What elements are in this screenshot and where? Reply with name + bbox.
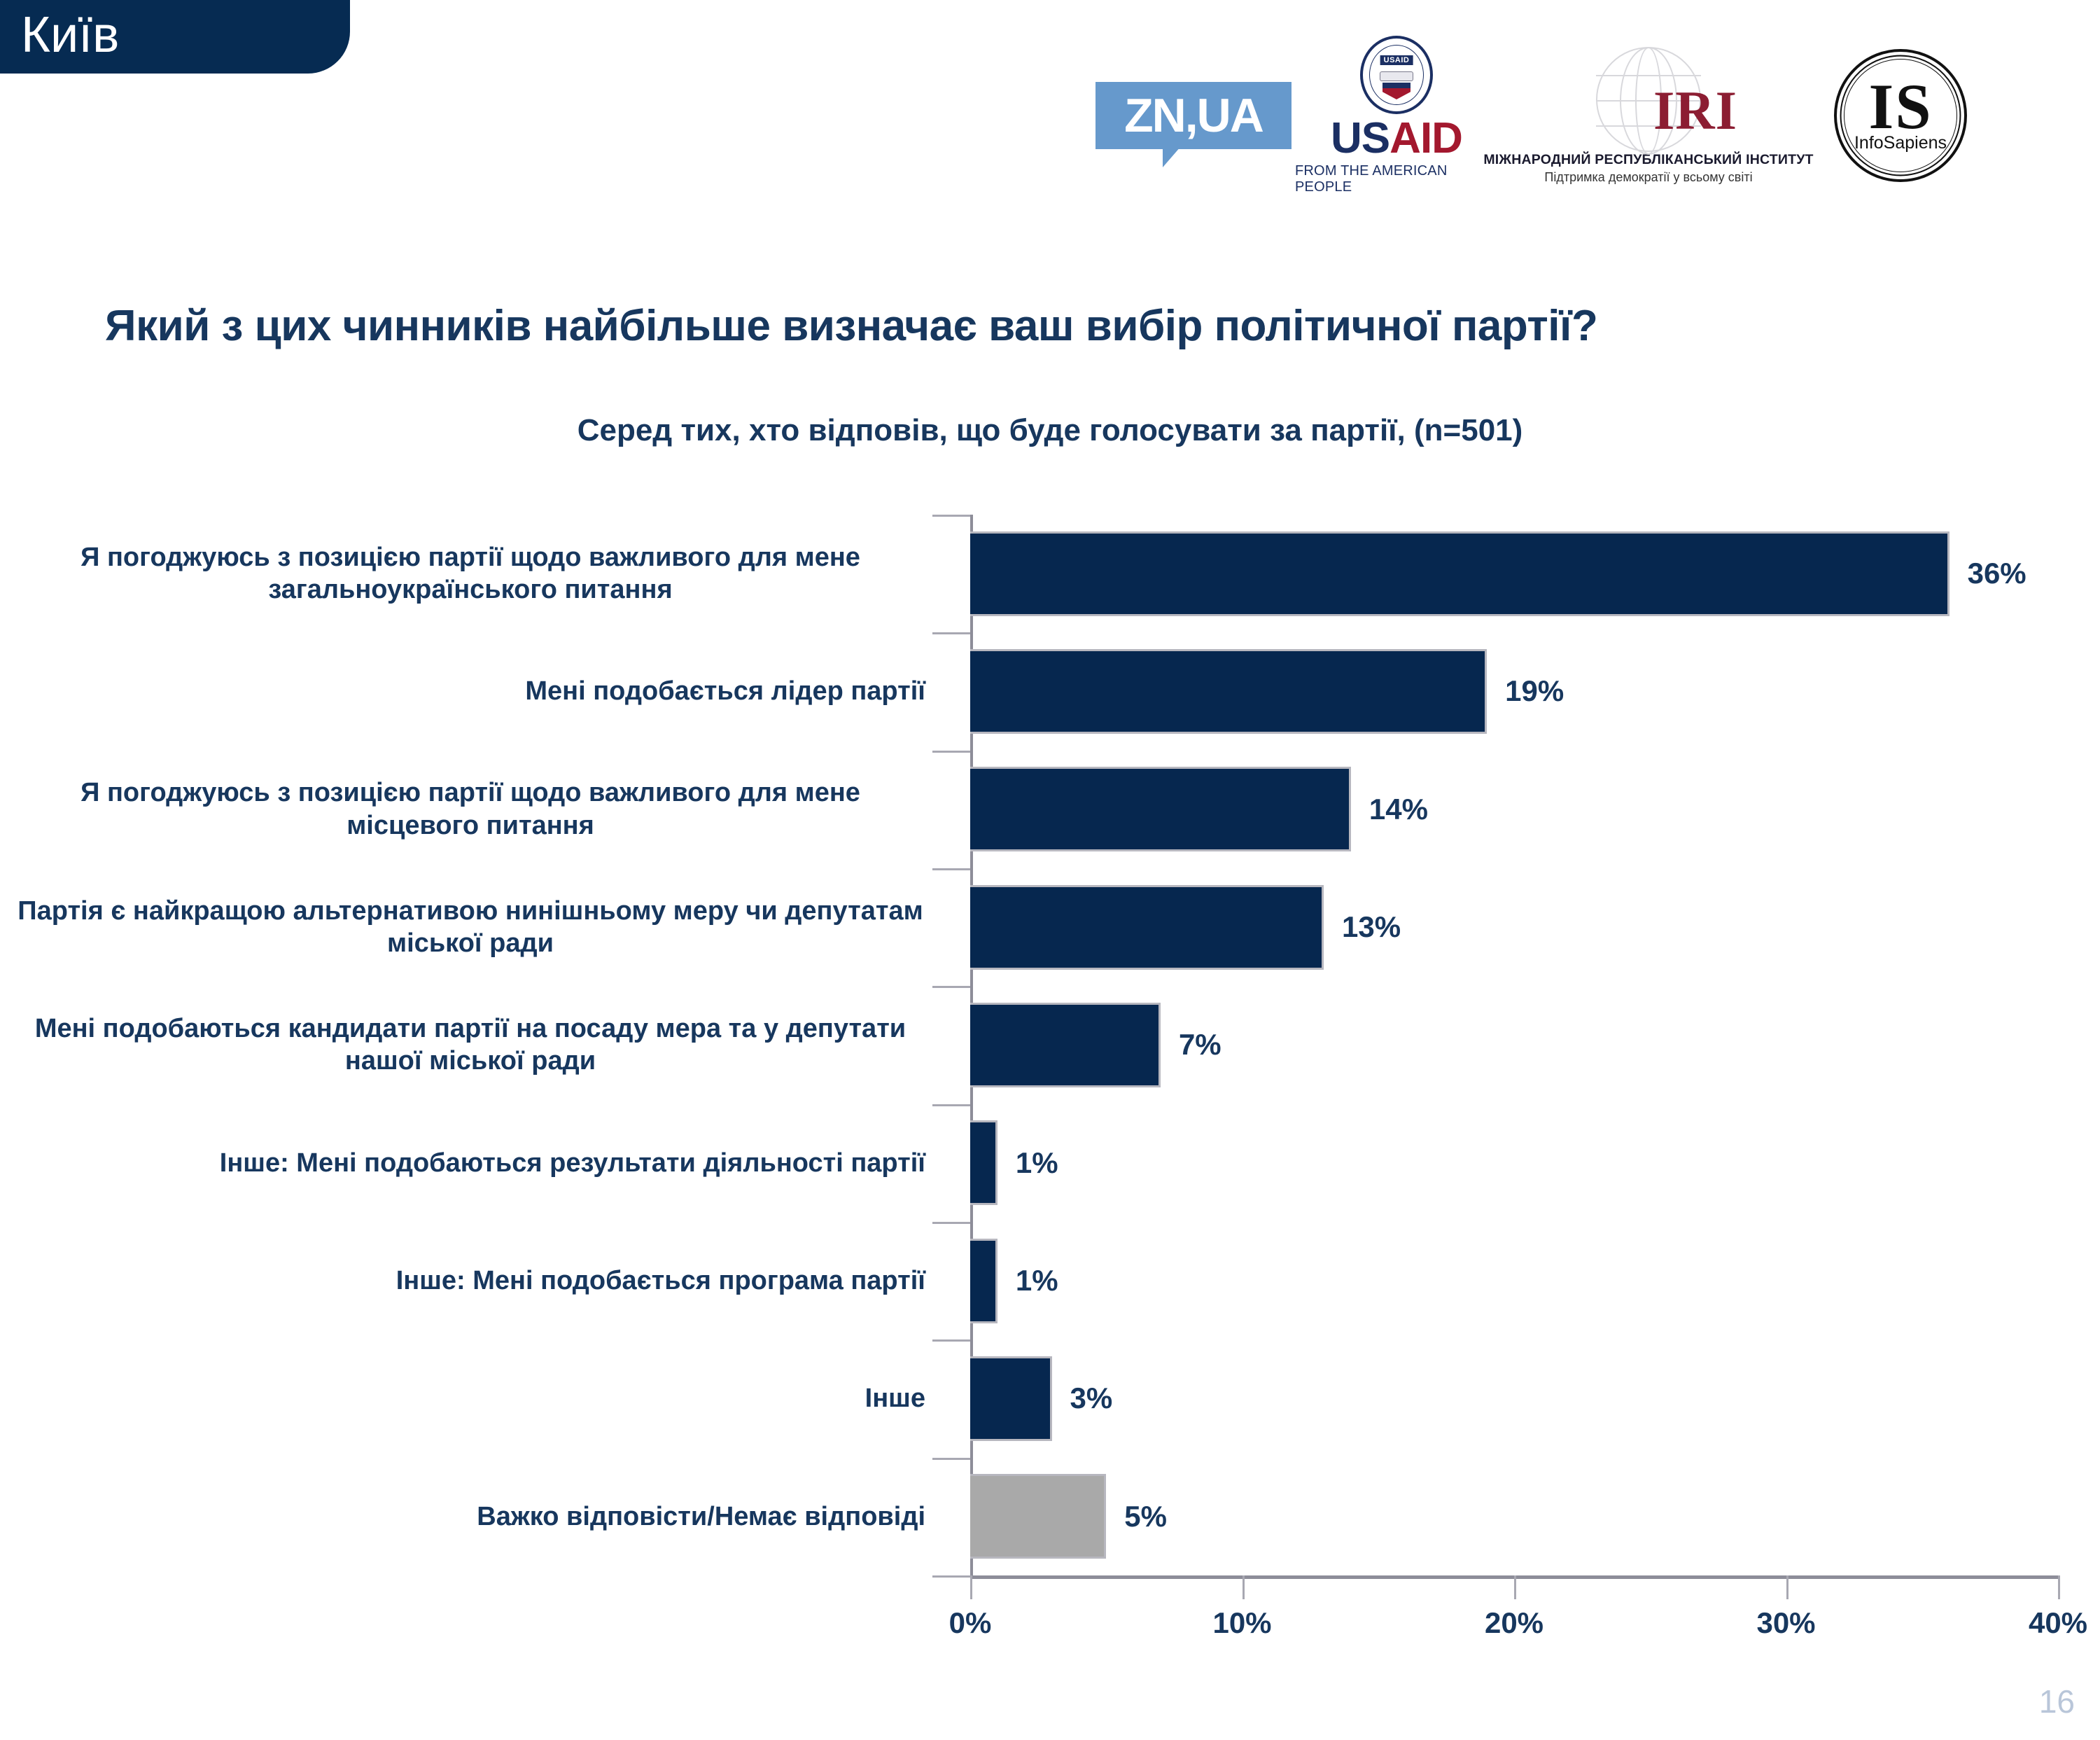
usaid-tagline: FROM THE AMERICAN PEOPLE: [1295, 163, 1498, 195]
category-label: Мені подобаються кандидати партії на пос…: [15, 986, 925, 1104]
globe-latitude-1: [1596, 75, 1701, 76]
bar-row[interactable]: 5%: [970, 1474, 2058, 1559]
usaid-seal-icon: USAID: [1360, 36, 1433, 114]
category-label-text: Я погоджуюсь з позицією партії щодо важл…: [15, 541, 925, 606]
chart-title: Який з цих чинників найбільше визначає в…: [105, 301, 2044, 351]
y-axis-tick: [932, 751, 970, 753]
category-label: Партія є найкращою альтернативою нинішнь…: [15, 868, 925, 986]
y-axis-tick: [932, 986, 970, 988]
usaid-seal-label: USAID: [1380, 55, 1413, 65]
bar-row[interactable]: 19%: [970, 649, 2058, 734]
bar-value-label: 7%: [1179, 1028, 1221, 1062]
category-label: Інше: Мені подобається програма партії: [15, 1222, 925, 1339]
x-axis-tick: [1514, 1575, 1516, 1599]
bar[interactable]: [970, 1239, 997, 1323]
bar[interactable]: [970, 1003, 1161, 1087]
bar-value-label: 13%: [1342, 910, 1401, 944]
usaid-wordmark: USAID: [1331, 117, 1462, 160]
bar-value-label: 14%: [1369, 793, 1428, 826]
category-label: Я погоджуюсь з позицією партії щодо важл…: [15, 515, 925, 632]
category-label-text: Мені подобаються кандидати партії на пос…: [15, 1012, 925, 1078]
bar-row[interactable]: 36%: [970, 531, 2058, 616]
bar-value-label: 36%: [1968, 557, 2026, 590]
y-axis-tick: [932, 1458, 970, 1460]
znua-logo: ZN,UA: [1092, 82, 1295, 149]
category-label: Мені подобається лідер партії: [15, 632, 925, 750]
category-label: Інше: [15, 1339, 925, 1457]
usaid-handshake-icon: [1380, 71, 1413, 81]
bar-value-label: 1%: [1016, 1264, 1058, 1297]
bar[interactable]: [970, 649, 1487, 734]
bar[interactable]: [970, 531, 1949, 616]
x-axis-tick: [970, 1575, 972, 1599]
x-axis-tick: [1786, 1575, 1788, 1599]
category-label-text: Я погоджуюсь з позицією партії щодо важл…: [15, 777, 925, 842]
category-label: Інше: Мені подобаються результати діяльн…: [15, 1104, 925, 1222]
page-number: 16: [2039, 1683, 2075, 1720]
usaid-word-aid: AID: [1389, 114, 1462, 162]
category-label-text: Мені подобається лідер партії: [525, 675, 925, 707]
category-label: Я погоджуюсь з позицією партії щодо важл…: [15, 751, 925, 868]
bar[interactable]: [970, 1356, 1052, 1441]
category-label-text: Інше: Мені подобається програма партії: [396, 1265, 925, 1297]
chart-plot-area: 36%19%14%13%7%1%1%3%5% 0%10%20%30%40%: [970, 515, 2058, 1575]
znua-logo-box: ZN,UA: [1095, 82, 1291, 149]
bar[interactable]: [970, 767, 1351, 851]
y-axis-tick: [932, 1339, 970, 1342]
x-axis-tick-label: 40%: [2029, 1606, 2087, 1640]
bar-row[interactable]: 14%: [970, 767, 2058, 851]
category-label-text: Партія є найкращою альтернативою нинішнь…: [15, 895, 925, 960]
x-axis-tick-label: 0%: [949, 1606, 992, 1640]
x-axis-tick-label: 30%: [1756, 1606, 1815, 1640]
bar-row[interactable]: 13%: [970, 885, 2058, 970]
bar[interactable]: [970, 1474, 1106, 1559]
y-axis-tick: [932, 1104, 970, 1106]
category-label-text: Інше: Мені подобаються результати діяльн…: [220, 1147, 925, 1179]
slide-root: Київ ZN,UA USAID USAID FROM THE AMERICAN…: [0, 0, 2100, 1740]
infosapiens-wordmark: IS: [1869, 78, 1933, 136]
y-axis-tick: [932, 1222, 970, 1224]
chart-subtitle: Серед тих, хто відповів, що буде голосув…: [105, 413, 1995, 448]
y-axis-tick: [932, 515, 970, 517]
bar-row[interactable]: 3%: [970, 1356, 2058, 1441]
bar-row[interactable]: 1%: [970, 1120, 2058, 1205]
bar-value-label: 3%: [1070, 1381, 1113, 1415]
infosapiens-name: InfoSapiens: [1854, 133, 1947, 153]
logo-row: ZN,UA USAID USAID FROM THE AMERICAN PEOP…: [1092, 21, 2086, 210]
infosapiens-circle-icon: IS InfoSapiens: [1834, 49, 1967, 182]
bar-row[interactable]: 1%: [970, 1239, 2058, 1323]
znua-speech-tail-icon: [1163, 146, 1192, 167]
infosapiens-logo: IS InfoSapiens: [1799, 49, 2002, 182]
usaid-logo: USAID USAID FROM THE AMERICAN PEOPLE: [1295, 36, 1498, 195]
category-label-text: Важко відповісти/Немає відповіді: [477, 1501, 925, 1533]
category-label: Важко відповісти/Немає відповіді: [15, 1458, 925, 1575]
city-banner: Київ: [0, 0, 350, 74]
x-axis-tick: [2058, 1575, 2060, 1599]
znua-logo-text: ZN,UA: [1124, 92, 1263, 139]
bar[interactable]: [970, 1120, 997, 1205]
category-label-text: Інше: [865, 1382, 925, 1414]
y-axis-tick: [932, 1575, 970, 1578]
usaid-word-us: US: [1331, 114, 1389, 162]
y-axis-tick: [932, 868, 970, 870]
iri-globe-wrap: IRI: [1533, 47, 1764, 152]
y-axis-tick: [932, 632, 970, 634]
bar-row[interactable]: 7%: [970, 1003, 2058, 1087]
bar[interactable]: [970, 885, 1324, 970]
city-name: Київ: [0, 0, 119, 64]
iri-slogan: Підтримка демократії у всьому світі: [1544, 170, 1752, 185]
iri-wordmark: IRI: [1653, 83, 1737, 138]
x-axis-tick-label: 10%: [1212, 1606, 1271, 1640]
bar-value-label: 19%: [1505, 674, 1564, 708]
bar-value-label: 1%: [1016, 1146, 1058, 1180]
iri-logo: IRI МІЖНАРОДНИЙ РЕСПУБЛІКАНСЬКИЙ ІНСТИТУ…: [1498, 47, 1799, 185]
x-axis-tick-label: 20%: [1485, 1606, 1543, 1640]
x-axis-tick: [1242, 1575, 1245, 1599]
bar-value-label: 5%: [1124, 1500, 1167, 1533]
